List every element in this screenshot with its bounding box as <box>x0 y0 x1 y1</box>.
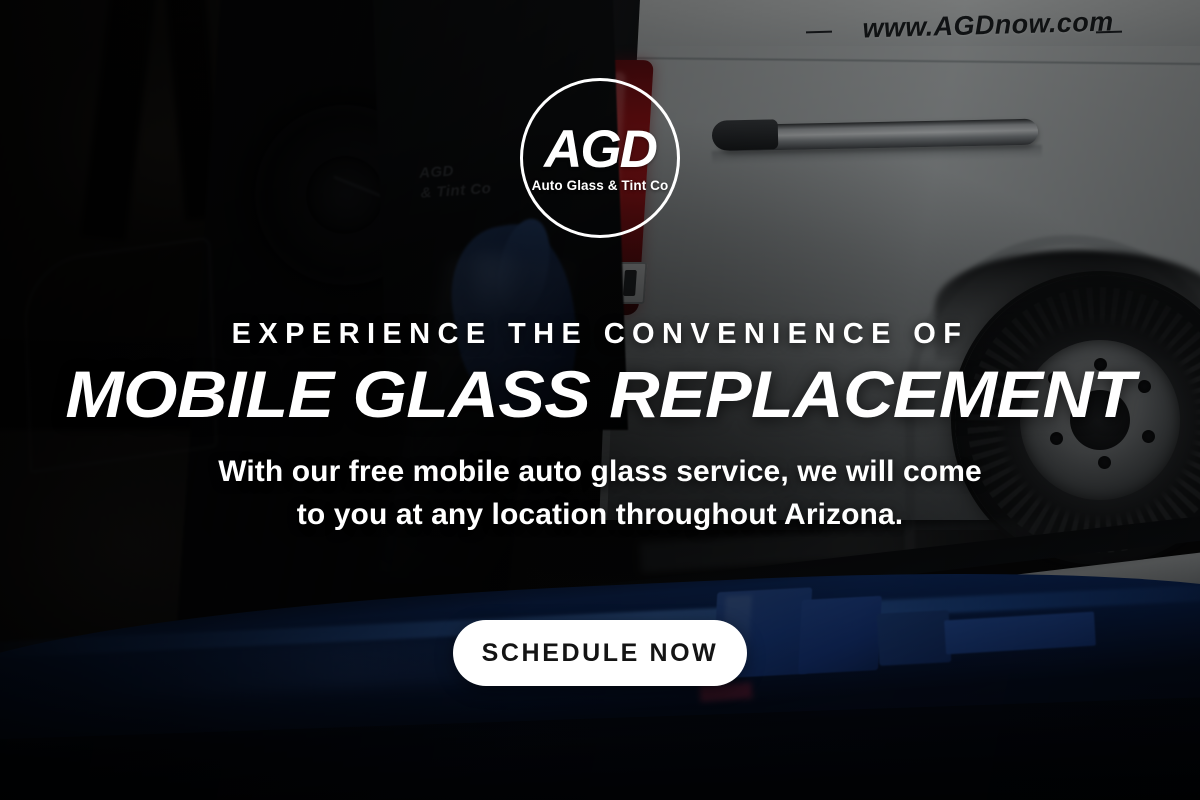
logo-tagline: Auto Glass & Tint Co <box>532 178 669 193</box>
hero-subcopy: With our free mobile auto glass service,… <box>0 450 1200 536</box>
hero-eyebrow: EXPERIENCE THE CONVENIENCE OF <box>0 318 1200 351</box>
agd-logo-badge[interactable]: AGD Auto Glass & Tint Co <box>520 78 680 238</box>
hero-content: AGD Auto Glass & Tint Co EXPERIENCE THE … <box>0 0 1200 800</box>
hero-banner: www.AGDnow.com AGD& Tint Co <box>0 0 1200 800</box>
schedule-now-button[interactable]: SCHEDULE NOW <box>453 620 747 686</box>
hero-subcopy-line-2: to you at any location throughout Arizon… <box>0 493 1200 536</box>
hero-headline: MOBILE GLASS REPLACEMENT <box>0 360 1200 429</box>
logo-wordmark: AGD <box>544 123 656 176</box>
hero-subcopy-line-1: With our free mobile auto glass service,… <box>0 450 1200 493</box>
